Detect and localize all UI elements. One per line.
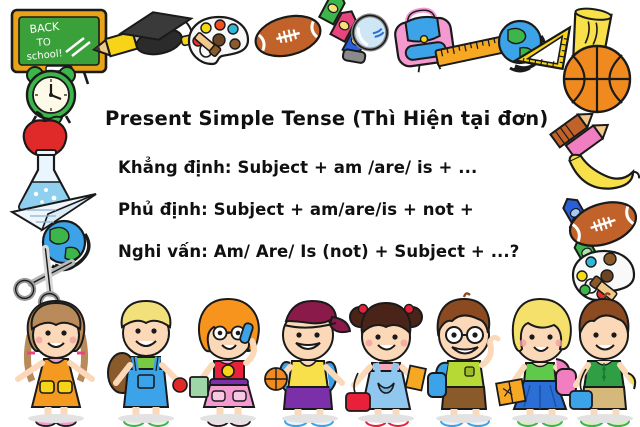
paint-palette-icon [186, 14, 252, 68]
child-boy-green-polo-banana [566, 293, 640, 427]
poster-canvas: BACK TO school! [0, 0, 640, 427]
child-girl-braids-orange-dress [10, 295, 102, 427]
negative-rule: Phủ định: Subject + am/are/is + not + [118, 200, 474, 219]
affirmative-rule: Khẳng định: Subject + am /are/ is + ... [118, 158, 477, 177]
page-title: Present Simple Tense (Thì Hiện tại đơn) [105, 107, 548, 130]
graduation-cap-icon [118, 8, 196, 64]
football-right-icon [566, 196, 640, 252]
child-boy-blonde-overalls [100, 295, 192, 427]
interrogative-rule: Nghi vấn: Am/ Are/ Is (not) + Subject + … [118, 242, 519, 261]
chalkboard-line2: TO [35, 37, 51, 49]
child-girl-curly-phone [182, 295, 274, 427]
